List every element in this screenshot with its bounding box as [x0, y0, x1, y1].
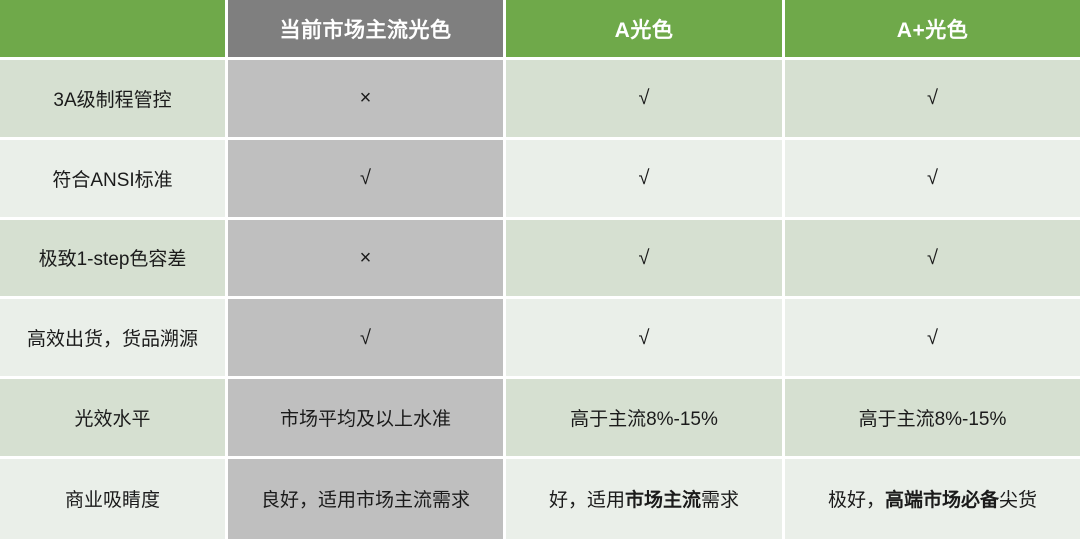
status-mark: √ — [639, 328, 650, 348]
cell-aplus: 高于主流8%-15% — [785, 379, 1080, 459]
status-mark: √ — [360, 328, 371, 348]
row-label: 光效水平 — [74, 404, 150, 431]
cell-mainstream: 市场平均及以上水准 — [228, 379, 506, 459]
table-row: 3A级制程管控 × √ √ — [0, 60, 1080, 140]
header-cell-a: A光色 — [506, 0, 785, 60]
row-label-cell: 高效出货，货品溯源 — [0, 299, 228, 379]
row-label-cell: 符合ANSI标准 — [0, 140, 228, 220]
cell-aplus: √ — [785, 60, 1080, 140]
row-label: 高效出货，货品溯源 — [27, 324, 198, 351]
status-mark: √ — [639, 168, 650, 188]
cell-a: √ — [506, 140, 785, 220]
row-label-cell: 商业吸睛度 — [0, 459, 228, 539]
table-row: 极致1-step色容差 × √ √ — [0, 220, 1080, 300]
status-mark: √ — [639, 88, 650, 108]
header-label-aplus: A+光色 — [897, 14, 968, 44]
cell-value-rich: 极好，高端市场必备尖货 — [828, 485, 1037, 512]
row-label: 商业吸睛度 — [65, 485, 160, 512]
status-mark: √ — [927, 248, 938, 268]
status-mark: × — [360, 248, 372, 268]
status-mark: √ — [639, 248, 650, 268]
table-header-row: 当前市场主流光色 A光色 A+光色 — [0, 0, 1080, 60]
cell-aplus: √ — [785, 299, 1080, 379]
row-label: 3A级制程管控 — [53, 85, 171, 112]
row-label: 符合ANSI标准 — [52, 165, 172, 192]
header-label-a: A光色 — [615, 14, 674, 44]
row-label-cell: 极致1-step色容差 — [0, 220, 228, 300]
cell-a: 高于主流8%-15% — [506, 379, 785, 459]
header-cell-aplus: A+光色 — [785, 0, 1080, 60]
status-mark: √ — [927, 168, 938, 188]
cell-mainstream: √ — [228, 140, 506, 220]
cell-value: 高于主流8%-15% — [570, 404, 718, 431]
table-row: 高效出货，货品溯源 √ √ √ — [0, 299, 1080, 379]
status-mark: √ — [927, 88, 938, 108]
row-label-cell: 光效水平 — [0, 379, 228, 459]
cell-value: 高于主流8%-15% — [859, 404, 1007, 431]
cell-mainstream: 良好，适用市场主流需求 — [228, 459, 506, 539]
cell-a: √ — [506, 60, 785, 140]
header-cell-mainstream: 当前市场主流光色 — [228, 0, 506, 60]
row-label-cell: 3A级制程管控 — [0, 60, 228, 140]
header-label-mainstream: 当前市场主流光色 — [280, 14, 452, 44]
cell-aplus: 极好，高端市场必备尖货 — [785, 459, 1080, 539]
cell-value: 良好，适用市场主流需求 — [261, 485, 470, 512]
status-mark: √ — [927, 328, 938, 348]
cell-a: √ — [506, 220, 785, 300]
table-row: 商业吸睛度 良好，适用市场主流需求 好，适用市场主流需求 极好，高端市场必备尖货 — [0, 459, 1080, 539]
cell-a: √ — [506, 299, 785, 379]
table-row: 光效水平 市场平均及以上水准 高于主流8%-15% 高于主流8%-15% — [0, 379, 1080, 459]
cell-mainstream: × — [228, 220, 506, 300]
header-cell-feature — [0, 0, 228, 60]
cell-value: 市场平均及以上水准 — [280, 404, 451, 431]
cell-value-rich: 好，适用市场主流需求 — [549, 485, 739, 512]
status-mark: √ — [360, 168, 371, 188]
row-label: 极致1-step色容差 — [39, 244, 187, 271]
cell-aplus: √ — [785, 140, 1080, 220]
table-row: 符合ANSI标准 √ √ √ — [0, 140, 1080, 220]
cell-mainstream: × — [228, 60, 506, 140]
comparison-table: 当前市场主流光色 A光色 A+光色 3A级制程管控 × √ √ 符合ANSI标准… — [0, 0, 1080, 539]
cell-aplus: √ — [785, 220, 1080, 300]
cell-mainstream: √ — [228, 299, 506, 379]
cell-a: 好，适用市场主流需求 — [506, 459, 785, 539]
status-mark: × — [360, 88, 372, 108]
